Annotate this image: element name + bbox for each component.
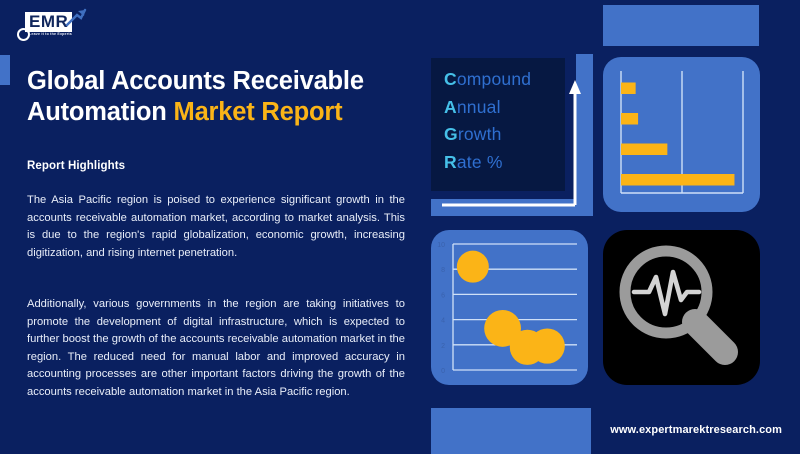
cagr-letter-g: G [444,124,458,144]
decorative-block-top-right [603,5,759,46]
up-arrow-icon [65,8,87,28]
cagr-word-rate: ate % [457,152,503,172]
cagr-word-growth: rowth [458,124,502,144]
scatter-chart: 1086420 [431,230,588,385]
scatter-point-1 [457,251,489,283]
cagr-panel: Compound Annual Growth Rate % [431,54,593,216]
bar-3 [621,144,667,156]
scatter-ytick-6: 6 [441,292,445,299]
scatter-chart-points [457,251,565,365]
magnifier-pulse-icon [603,230,760,385]
left-content-column: EMR Leave it to the Experts Global Accou… [0,0,425,450]
bar-4 [621,174,734,186]
scatter-ytick-2: 2 [441,343,445,350]
page-title-line2-highlight: Market Report [174,98,343,126]
cagr-word-compound: ompound [457,69,531,89]
emr-logo[interactable]: EMR Leave it to the Experts [17,8,97,44]
highlights-paragraph-2: Additionally, various governments in the… [27,296,405,402]
scatter-ytick-8: 8 [441,267,445,274]
cagr-letter-c: C [444,69,457,89]
poster-canvas: EMR Leave it to the Experts Global Accou… [0,0,800,450]
cagr-letter-a: A [444,97,457,117]
page-title-line1: Global Accounts Receivable [27,67,364,95]
bar-chart-series [621,83,734,186]
bar-chart [603,57,760,212]
decorative-block-bottom [431,408,591,454]
cagr-word-annual: nnual [457,97,501,117]
scatter-ytick-10: 10 [437,242,445,249]
cagr-letter-r: R [444,152,457,172]
scatter-ytick-4: 4 [441,318,445,325]
bar-1 [621,83,636,95]
analysis-icon-panel [603,230,760,385]
report-highlights-heading: Report Highlights [27,160,125,172]
footer-website[interactable]: www.expertmarektresearch.com [610,424,782,436]
scatter-ytick-0: 0 [441,368,445,375]
cagr-accent-horizontal [431,199,593,216]
scatter-point-4 [530,328,565,363]
page-title-line2-plain: Automation [27,98,174,126]
scatter-chart-panel: 1086420 [431,230,588,385]
page-title: Global Accounts Receivable Automation Ma… [27,66,417,128]
cagr-text-block: Compound Annual Growth Rate % [444,66,531,176]
cagr-accent-vertical [576,54,593,199]
bar-chart-panel [603,57,760,212]
logo-tagline: Leave it to the Experts [29,32,72,36]
scatter-chart-ytick-labels: 1086420 [437,242,445,375]
highlights-paragraph-1: The Asia Pacific region is poised to exp… [27,192,405,262]
bar-2 [621,113,638,125]
